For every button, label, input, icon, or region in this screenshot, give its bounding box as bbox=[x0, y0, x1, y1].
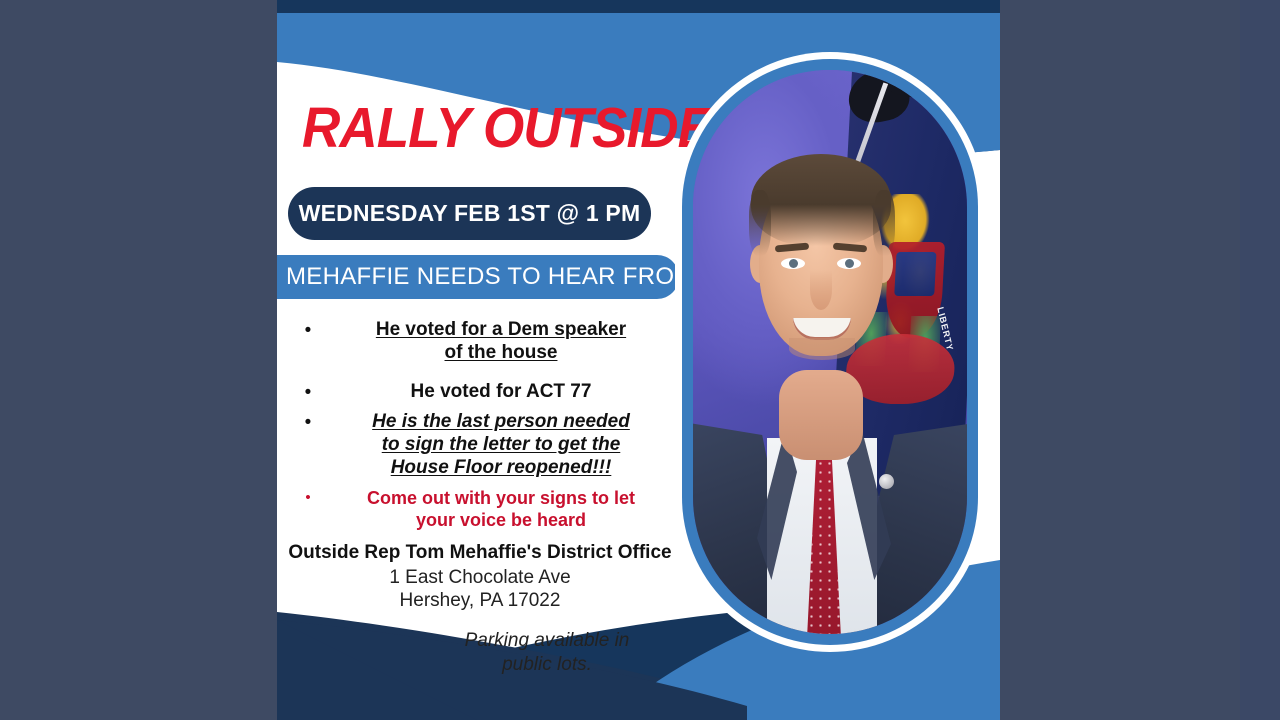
list-item-text: He is the last person needed to sign the… bbox=[319, 410, 683, 480]
spacer bbox=[297, 364, 683, 380]
spacer bbox=[297, 479, 683, 488]
list-item-line: House Floor reopened!!! bbox=[319, 456, 683, 479]
list-item: • He is the last person needed to sign t… bbox=[297, 410, 683, 480]
bullet-marker: • bbox=[297, 380, 319, 404]
rally-poster: RALLY OUTSIDE WEDNESDAY FEB 1ST @ 1 PM M… bbox=[277, 0, 1000, 720]
bullet-marker: • bbox=[297, 318, 319, 342]
chin bbox=[789, 338, 855, 360]
neck bbox=[779, 370, 863, 460]
screenshot-stage: RALLY OUTSIDE WEDNESDAY FEB 1ST @ 1 PM M… bbox=[0, 0, 1280, 720]
address-line-city: Hershey, PA 17022 bbox=[285, 589, 675, 613]
page-title: RALLY OUTSIDE bbox=[302, 100, 674, 157]
top-navy-band bbox=[277, 0, 1000, 13]
hair-side-left bbox=[749, 190, 771, 256]
call-to-action-banner: MEHAFFIE NEEDS TO HEAR FROM YOU bbox=[277, 255, 679, 299]
date-time-badge: WEDNESDAY FEB 1ST @ 1 PM bbox=[288, 187, 651, 240]
address-line-office: Outside Rep Tom Mehaffie's District Offi… bbox=[285, 541, 675, 566]
list-item-text: Come out with your signs to let your voi… bbox=[319, 488, 683, 532]
parking-note-line: Parking available in bbox=[422, 629, 672, 653]
list-item: • Come out with your signs to let your v… bbox=[297, 488, 683, 532]
parking-note: Parking available in public lots. bbox=[422, 629, 672, 677]
list-item-text: He voted for ACT 77 bbox=[319, 380, 683, 403]
poster-right-edge-strip bbox=[1240, 0, 1280, 720]
list-item-line: He is the last person needed bbox=[319, 410, 683, 433]
parking-note-line: public lots. bbox=[422, 653, 672, 677]
pupil-right bbox=[845, 259, 854, 268]
list-item-line: to sign the letter to get the bbox=[319, 433, 683, 456]
lapel-pin bbox=[879, 474, 894, 489]
portrait-frame: VIRTUE LIBERTY bbox=[675, 52, 985, 652]
list-item-line: your voice be heard bbox=[319, 510, 683, 532]
list-item: • He voted for ACT 77 bbox=[297, 380, 683, 404]
list-item-line: He voted for ACT 77 bbox=[319, 380, 683, 403]
bullet-list: • He voted for a Dem speaker of the hous… bbox=[297, 318, 683, 532]
flag-shield-inner bbox=[894, 252, 936, 296]
address-line-street: 1 East Chocolate Ave bbox=[285, 566, 675, 590]
list-item-line: He voted for a Dem speaker bbox=[319, 318, 683, 341]
address-block: Outside Rep Tom Mehaffie's District Offi… bbox=[285, 541, 675, 613]
date-time-label: WEDNESDAY FEB 1ST @ 1 PM bbox=[299, 200, 641, 227]
list-item-line: of the house bbox=[319, 341, 683, 364]
list-item-text: He voted for a Dem speaker of the house bbox=[319, 318, 683, 364]
hair bbox=[751, 154, 891, 246]
portrait-photo: VIRTUE LIBERTY bbox=[693, 70, 967, 634]
pupil-left bbox=[789, 259, 798, 268]
list-item-line: Come out with your signs to let bbox=[319, 488, 683, 510]
bullet-marker: • bbox=[297, 488, 319, 507]
nose bbox=[810, 270, 832, 310]
list-item: • He voted for a Dem speaker of the hous… bbox=[297, 318, 683, 364]
hair-side-right bbox=[873, 190, 895, 256]
bullet-marker: • bbox=[297, 410, 319, 434]
